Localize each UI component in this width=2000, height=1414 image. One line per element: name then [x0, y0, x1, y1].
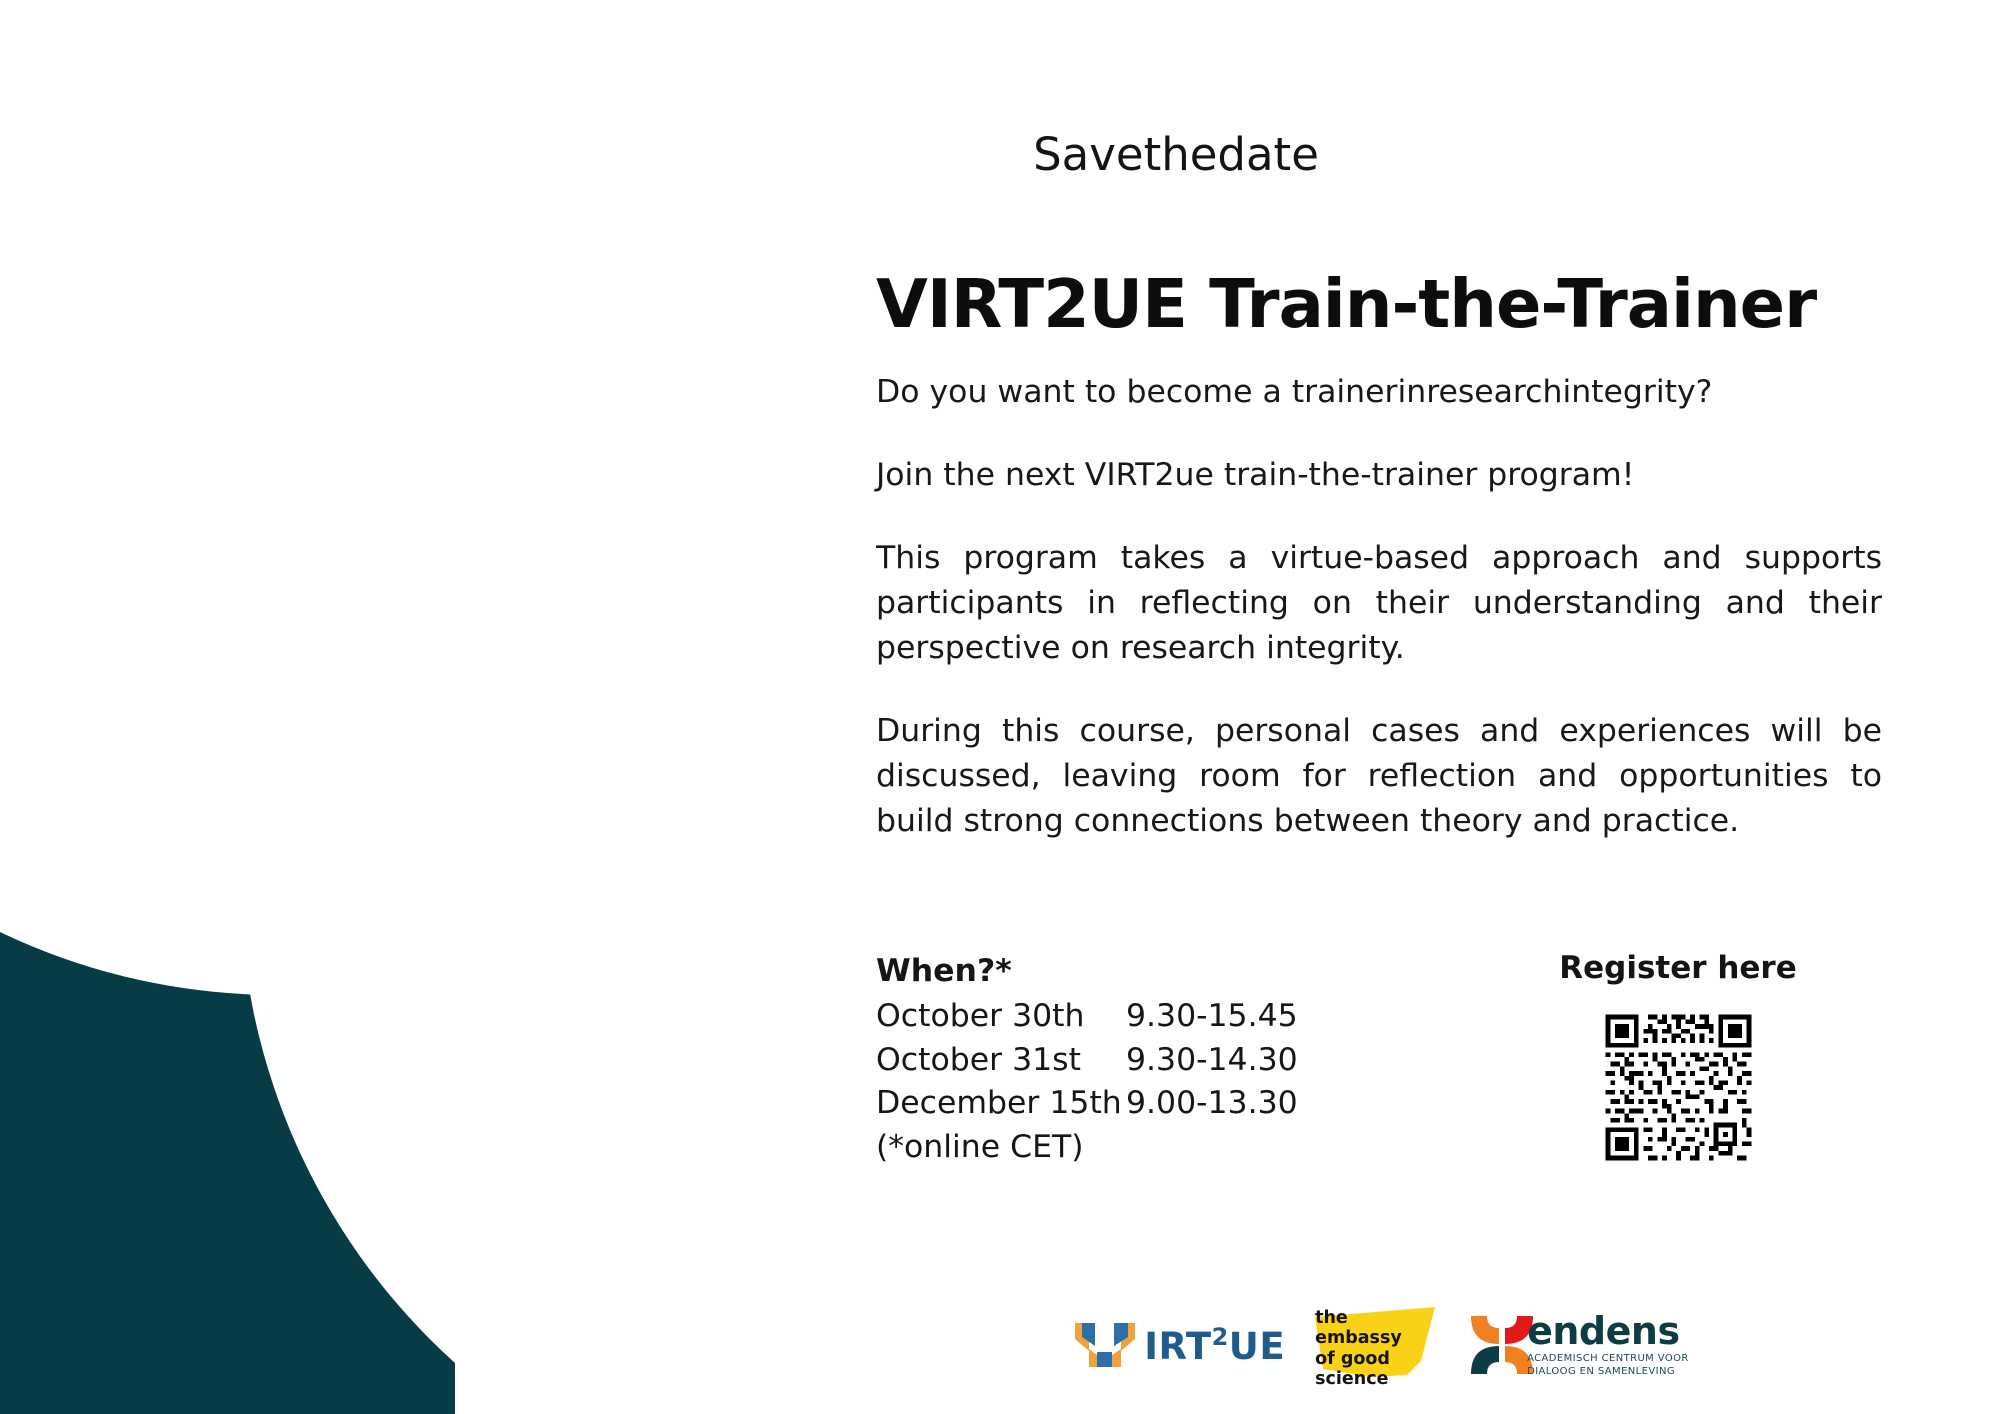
- savethedate-eyebrow: Savethedate: [876, 128, 1476, 181]
- xendens-tagline-line-1: ACADEMISCH CENTRUM VOOR: [1527, 1353, 1689, 1366]
- body-copy: Do you want to become a trainerinresearc…: [876, 370, 1882, 882]
- schedule-time: 9.00-13.30: [1126, 1082, 1298, 1125]
- when-block: When?* October 30th 9.30-15.45 October 3…: [876, 950, 1346, 1169]
- details-row: When?* October 30th 9.30-15.45 October 3…: [876, 950, 1886, 1210]
- embassy-line-2: embassy: [1315, 1328, 1402, 1348]
- when-footnote: (*online CET): [876, 1126, 1346, 1169]
- when-heading: When?*: [876, 950, 1346, 993]
- embassy-line-3: of good: [1315, 1349, 1402, 1369]
- schedule-date: October 30th: [876, 995, 1126, 1038]
- virt2ue-word-end: UE: [1229, 1325, 1285, 1368]
- schedule-row: October 31st 9.30-14.30: [876, 1039, 1346, 1082]
- schedule-time: 9.30-14.30: [1126, 1039, 1298, 1082]
- register-block: Register here: [1528, 950, 1828, 1169]
- poster-canvas: Savethedate VIRT2UE Train-the-Trainer Do…: [0, 0, 2000, 1414]
- poster-content: Savethedate VIRT2UE Train-the-Trainer Do…: [0, 0, 2000, 1414]
- xendens-tagline: ACADEMISCH CENTRUM VOOR DIALOOG EN SAMEN…: [1527, 1353, 1689, 1379]
- page-title: VIRT2UE Train-the-Trainer: [876, 265, 1496, 343]
- schedule-row: December 15th 9.00-13.30: [876, 1082, 1346, 1125]
- schedule-date: October 31st: [876, 1039, 1126, 1082]
- xendens-wordmark: endens: [1527, 1312, 1689, 1350]
- qr-code-wrapper[interactable]: [1601, 1010, 1756, 1165]
- logo-strip: IRT2UE the embassy of good science: [876, 1300, 1886, 1390]
- xendens-text-block: endens ACADEMISCH CENTRUM VOOR DIALOOG E…: [1527, 1312, 1689, 1379]
- register-heading: Register here: [1528, 950, 1828, 986]
- virt2ue-word-main: IRT: [1144, 1325, 1211, 1368]
- virt2ue-mark-icon: [1073, 1319, 1137, 1371]
- paragraph-join: Join the next VIRT2ue train-the-trainer …: [876, 453, 1882, 498]
- schedule-date: December 15th: [876, 1082, 1126, 1125]
- logo-virt2ue: IRT2UE: [1073, 1316, 1285, 1374]
- embassy-line-4: science: [1315, 1369, 1402, 1389]
- logo-embassy-of-good-science: the embassy of good science: [1311, 1303, 1439, 1387]
- embassy-line-1: the: [1315, 1308, 1402, 1328]
- paragraph-program: This program takes a virtue-based approa…: [876, 536, 1882, 671]
- qr-code-icon[interactable]: [1601, 1010, 1756, 1165]
- virt2ue-wordmark: IRT2UE: [1144, 1325, 1285, 1365]
- schedule-row: October 30th 9.30-15.45: [876, 995, 1346, 1038]
- xendens-tagline-line-2: DIALOOG EN SAMENLEVING: [1527, 1366, 1689, 1379]
- virt2ue-word-sup: 2: [1212, 1323, 1229, 1351]
- paragraph-intro: Do you want to become a trainerinresearc…: [876, 370, 1882, 415]
- embassy-wordmark: the embassy of good science: [1315, 1308, 1402, 1389]
- schedule-time: 9.30-15.45: [1126, 995, 1298, 1038]
- logo-xendens: endens ACADEMISCH CENTRUM VOOR DIALOOG E…: [1465, 1309, 1689, 1381]
- paragraph-course: During this course, personal cases and e…: [876, 709, 1882, 844]
